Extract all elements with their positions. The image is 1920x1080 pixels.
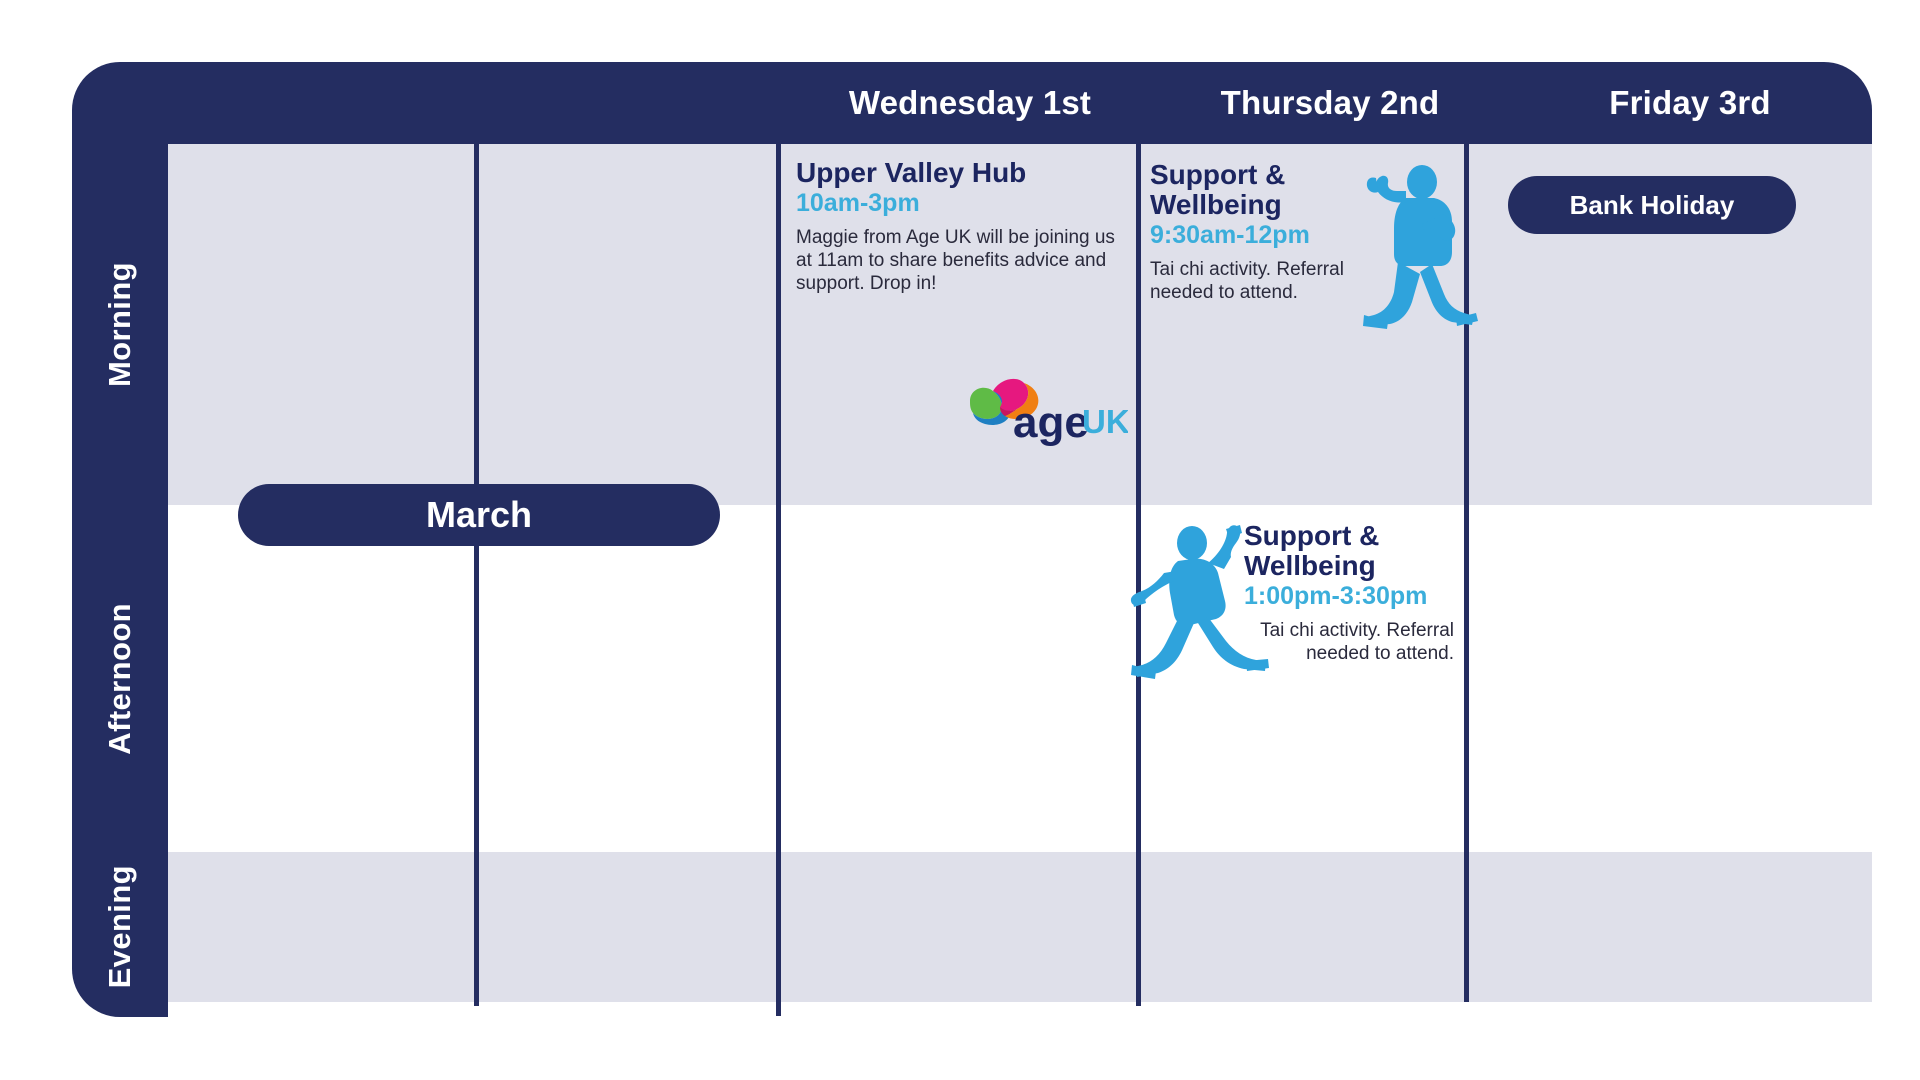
age-uk-logo-word-age: age xyxy=(1013,398,1089,447)
event-card-support-wellbeing-afternoon[interactable]: Support & Wellbeing 1:00pm-3:30pm Tai ch… xyxy=(1136,505,1464,852)
cell-friday-afternoon[interactable] xyxy=(1464,505,1872,852)
row-label-evening: Evening xyxy=(72,852,168,1002)
column-thursday: Support & Wellbeing 9:30am-12pm Tai chi … xyxy=(1136,144,1464,1002)
month-badge[interactable]: March xyxy=(238,484,720,546)
column-blank-2 xyxy=(474,144,776,1002)
cell-thursday-morning[interactable]: Support & Wellbeing 9:30am-12pm Tai chi … xyxy=(1136,144,1464,505)
age-uk-logo: age UK xyxy=(960,371,1128,449)
timetable-grid-body: Upper Valley Hub 10am-3pm Maggie from Ag… xyxy=(168,144,1872,1002)
timetable-root: Upper Valley Hub 10am-3pm Maggie from Ag… xyxy=(0,0,1920,1080)
age-uk-logo-word-uk: UK xyxy=(1082,403,1128,440)
event-title: Upper Valley Hub xyxy=(796,158,1120,188)
event-time: 10am-3pm xyxy=(796,190,1120,218)
cell-friday-morning[interactable]: Bank Holiday xyxy=(1464,144,1872,505)
row-label-evening-text: Evening xyxy=(102,865,138,988)
day-header-blank-2 xyxy=(479,62,790,144)
cell-thursday-afternoon[interactable]: Support & Wellbeing 1:00pm-3:30pm Tai ch… xyxy=(1136,505,1464,852)
cell-wednesday-morning[interactable]: Upper Valley Hub 10am-3pm Maggie from Ag… xyxy=(776,144,1136,505)
event-description: Maggie from Age UK will be joining us at… xyxy=(796,226,1120,296)
tai-chi-figure-icon xyxy=(1130,519,1290,684)
row-label-afternoon-text: Afternoon xyxy=(102,603,138,755)
day-header-friday[interactable]: Friday 3rd xyxy=(1510,62,1870,144)
event-card-upper-valley-hub[interactable]: Upper Valley Hub 10am-3pm Maggie from Ag… xyxy=(776,144,1136,505)
day-header-wednesday[interactable]: Wednesday 1st xyxy=(790,62,1150,144)
column-friday: Bank Holiday xyxy=(1464,144,1872,1002)
row-label-morning: Morning xyxy=(72,144,168,505)
row-label-afternoon: Afternoon xyxy=(72,505,168,852)
day-header-row: Wednesday 1st Thursday 2nd Friday 3rd xyxy=(168,62,1872,144)
timetable-columns: Upper Valley Hub 10am-3pm Maggie from Ag… xyxy=(168,144,1872,1002)
event-card-support-wellbeing-morning[interactable]: Support & Wellbeing 9:30am-12pm Tai chi … xyxy=(1136,144,1464,505)
day-header-thursday[interactable]: Thursday 2nd xyxy=(1150,62,1510,144)
day-header-blank-1 xyxy=(168,62,479,144)
cell-wednesday-afternoon[interactable] xyxy=(776,505,1136,852)
column-blank-1 xyxy=(168,144,474,1002)
bank-holiday-badge[interactable]: Bank Holiday xyxy=(1508,176,1796,234)
column-wednesday: Upper Valley Hub 10am-3pm Maggie from Ag… xyxy=(776,144,1136,1002)
row-label-morning-text: Morning xyxy=(102,262,138,387)
